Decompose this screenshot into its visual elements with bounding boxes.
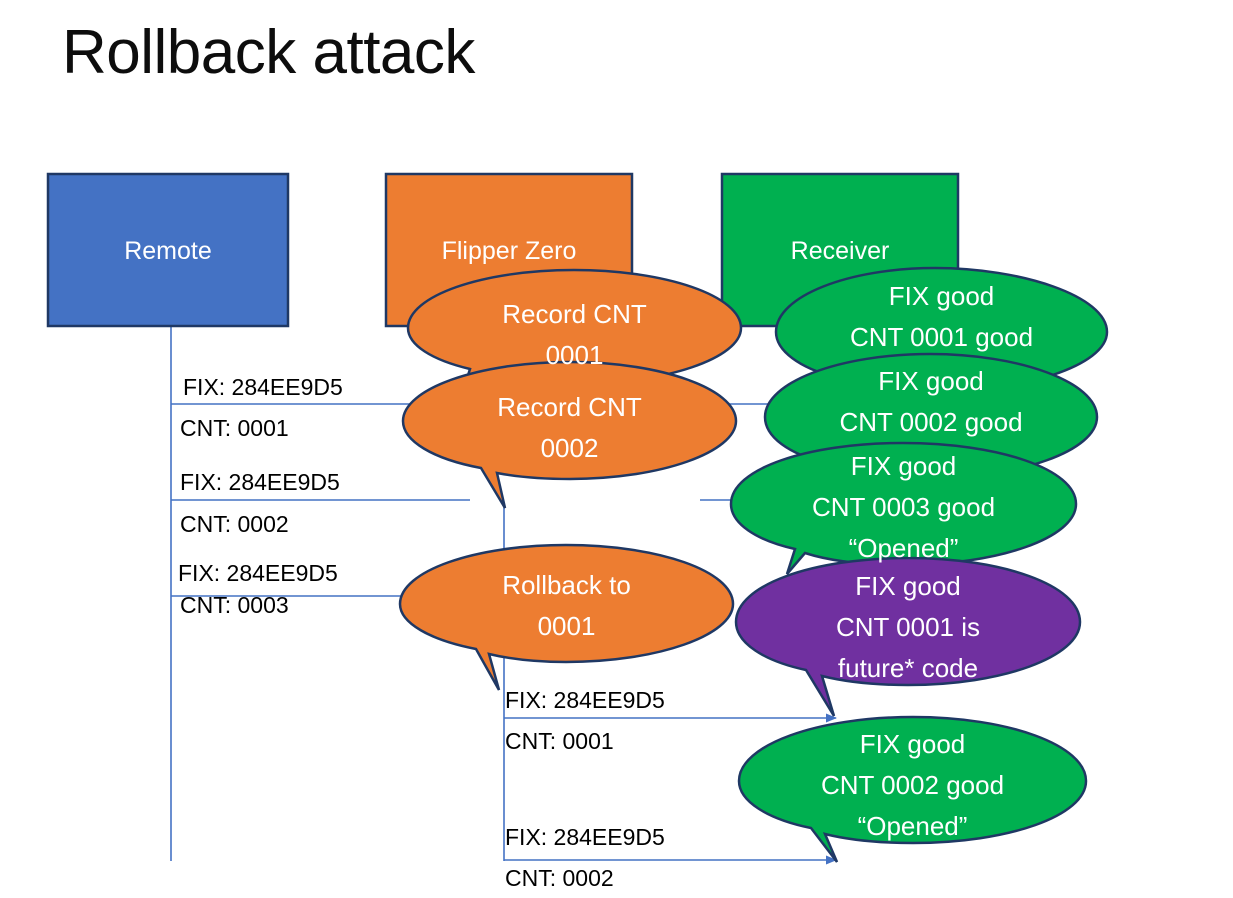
message-cnt-msg-4: CNT: 0001 [505,727,614,755]
bubble-label-receiver-opened-0002-l2: CNT 0002 good [739,765,1086,806]
bubble-label-receiver-future-0001-l1: FIX good [736,566,1080,607]
message-fix-msg-5: FIX: 284EE9D5 [505,823,665,851]
message-fix-msg-1: FIX: 284EE9D5 [183,373,343,401]
message-cnt-msg-3: CNT: 0003 [180,591,289,619]
bubble-label-receiver-future-0001-l3: future* code [736,648,1080,689]
actor-label-flipper: Flipper Zero [386,237,632,265]
bubble-label-receiver-good-0001-l2: CNT 0001 good [776,317,1107,358]
message-fix-msg-4: FIX: 284EE9D5 [505,686,665,714]
bubble-label-receiver-opened-0003-l2: CNT 0003 good [731,487,1076,528]
bubble-label-receiver-opened-0003-l1: FIX good [731,446,1076,487]
slide-canvas: Rollback attack [0,0,1233,898]
bubble-label-receiver-opened-0002-l3: “Opened” [739,806,1086,847]
bubble-label-receiver-good-0001-l1: FIX good [776,276,1107,317]
message-fix-msg-2: FIX: 284EE9D5 [180,468,340,496]
message-cnt-msg-5: CNT: 0002 [505,864,614,892]
bubble-label-receiver-good-0002-l2: CNT 0002 good [765,402,1097,443]
bubble-label-flipper-record-0002-l2: 0002 [403,428,736,469]
bubble-label-flipper-rollback-l2: 0001 [400,606,733,647]
bubble-label-flipper-record-0001-l1: Record CNT [408,294,741,335]
bubble-label-receiver-opened-0003-l3: “Opened” [731,528,1076,569]
actor-label-receiver: Receiver [722,237,958,265]
bubble-label-flipper-record-0001-l2: 0001 [408,335,741,376]
bubble-label-receiver-future-0001-l2: CNT 0001 is [736,607,1080,648]
bubble-label-receiver-opened-0002-l1: FIX good [739,724,1086,765]
bubble-label-receiver-good-0002-l1: FIX good [765,361,1097,402]
message-cnt-msg-2: CNT: 0002 [180,510,289,538]
actor-label-remote: Remote [48,237,288,265]
bubble-label-flipper-rollback-l1: Rollback to [400,565,733,606]
message-cnt-msg-1: CNT: 0001 [180,414,289,442]
bubble-label-flipper-record-0002-l1: Record CNT [403,387,736,428]
message-fix-msg-3: FIX: 284EE9D5 [178,559,338,587]
